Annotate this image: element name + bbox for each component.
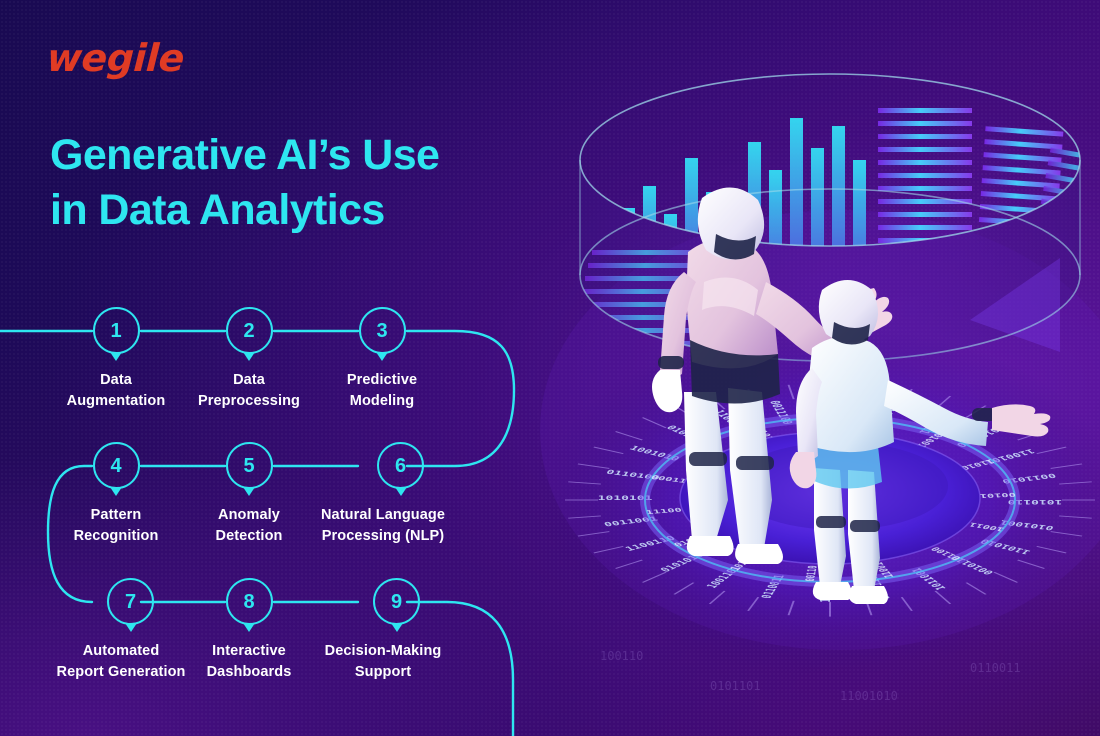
flow-step-9[interactable]: 9 Decision-Making Support: [302, 578, 464, 683]
step-4-circle[interactable]: 4: [93, 442, 140, 489]
step-5-circle[interactable]: 5: [226, 442, 273, 489]
step-3-circle[interactable]: 3: [359, 307, 406, 354]
infographic-page: wegile Generative AI’s Use in Data Analy…: [0, 0, 1100, 736]
step-8-number: 8: [243, 592, 254, 612]
step-1-number: 1: [110, 321, 121, 341]
page-title-line2: in Data Analytics: [50, 183, 570, 238]
svg-text:0101101: 0101101: [710, 679, 761, 693]
step-3-label: Predictive Modeling: [302, 370, 462, 412]
illustration-robots-data-cylinder: 1010010 0110101 1001011 0101100 1100101 …: [540, 0, 1100, 736]
step-6-number: 6: [395, 456, 406, 476]
step-4-number: 4: [110, 456, 121, 476]
step-2-number: 2: [243, 321, 254, 341]
step-7-circle[interactable]: 7: [107, 578, 154, 625]
flow-step-6[interactable]: 6 Natural Language Processing (NLP): [302, 442, 472, 547]
process-flow: 1 Data Augmentation 2 Data Preprocessing…: [0, 290, 560, 736]
step-6-label-line1: Natural Language: [294, 505, 472, 526]
step-9-label: Decision-Making Support: [302, 641, 464, 683]
svg-text:100110: 100110: [600, 649, 643, 663]
step-6-label: Natural Language Processing (NLP): [294, 505, 472, 547]
step-1-circle[interactable]: 1: [93, 307, 140, 354]
step-6-circle[interactable]: 6: [377, 442, 424, 489]
step-6-label-line2: Processing (NLP): [294, 526, 472, 547]
step-9-label-line2: Support: [302, 662, 464, 683]
step-7-number: 7: [125, 592, 136, 612]
svg-text:11001010: 11001010: [840, 689, 898, 703]
step-3-label-line2: Modeling: [302, 391, 462, 412]
step-3-label-line1: Predictive: [302, 370, 462, 391]
step-9-number: 9: [391, 592, 402, 612]
wegile-logo[interactable]: wegile: [46, 36, 185, 80]
step-9-label-line1: Decision-Making: [302, 641, 464, 662]
step-2-circle[interactable]: 2: [226, 307, 273, 354]
flow-step-3[interactable]: 3 Predictive Modeling: [302, 307, 462, 412]
step-3-number: 3: [376, 321, 387, 341]
page-title-line1: Generative AI’s Use: [50, 128, 570, 183]
step-9-circle[interactable]: 9: [373, 578, 420, 625]
svg-text:0110011: 0110011: [970, 661, 1021, 675]
step-8-circle[interactable]: 8: [226, 578, 273, 625]
page-title: Generative AI’s Use in Data Analytics: [50, 128, 570, 238]
step-5-number: 5: [243, 456, 254, 476]
